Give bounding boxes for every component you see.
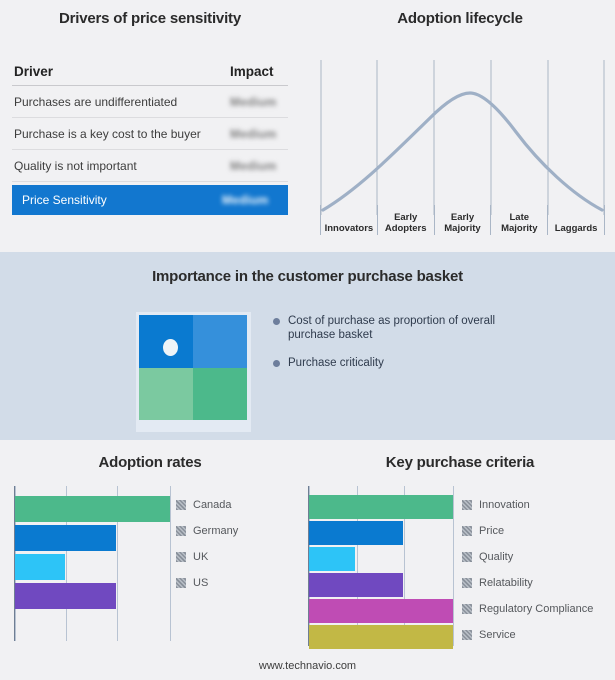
bar-regulatory-compliance — [309, 599, 453, 623]
lifecycle-panel-title: Adoption lifecycle — [305, 10, 615, 27]
bar-row — [15, 523, 170, 552]
impact-value: Medium — [230, 95, 282, 109]
bar-service — [309, 625, 453, 649]
lifecycle-segment-late-majority: LateMajority — [490, 205, 547, 235]
legend-label: Germany — [193, 525, 238, 537]
bullet-icon — [273, 318, 280, 325]
lifecycle-segment-laggards: Laggards — [547, 205, 605, 235]
key-purchase-criteria-legend: InnovationPriceQualityRelatabilityRegula… — [462, 492, 593, 648]
lifecycle-segment-innovators: Innovators — [320, 205, 377, 235]
legend-label: US — [193, 577, 208, 589]
driver-name: Purchases are undifferentiated — [14, 95, 177, 109]
legend-label: Quality — [479, 551, 513, 563]
bar-series — [309, 494, 453, 650]
legend-item: UK — [176, 544, 238, 570]
legend-label: Canada — [193, 499, 232, 511]
legend-label: Innovation — [479, 499, 530, 511]
segment-label: Innovators — [325, 223, 374, 235]
column-header-impact: Impact — [230, 64, 282, 79]
legend-item: Price — [462, 518, 593, 544]
bar-row — [309, 572, 453, 598]
legend-item: Cost of purchase as proportion of overal… — [273, 314, 573, 342]
bar-row — [15, 552, 170, 581]
legend-item: Relatability — [462, 570, 593, 596]
driver-name: Purchase is a key cost to the buyer — [14, 127, 201, 141]
legend-swatch-icon — [176, 500, 186, 510]
gridline — [453, 486, 454, 646]
legend-label: Regulatory Compliance — [479, 603, 593, 615]
table-row: Quality is not important Medium — [12, 150, 288, 182]
bar-row — [15, 581, 170, 610]
impact-value: Medium — [222, 193, 274, 207]
legend-swatch-icon — [176, 552, 186, 562]
basket-legend: Cost of purchase as proportion of overal… — [273, 314, 573, 384]
segment-label: Laggards — [555, 223, 598, 235]
segment-label: EarlyMajority — [444, 212, 480, 235]
legend-item: US — [176, 570, 238, 596]
legend-item: Canada — [176, 492, 238, 518]
bar-row — [309, 624, 453, 650]
legend-label: Service — [479, 629, 516, 641]
bar-row — [309, 598, 453, 624]
footer-url: www.technavio.com — [0, 660, 615, 672]
legend-item: Innovation — [462, 492, 593, 518]
bar-canada — [15, 496, 170, 522]
legend-label: Price — [479, 525, 504, 537]
infographic-root: Drivers of price sensitivity Driver Impa… — [0, 0, 615, 680]
legend-swatch-icon — [462, 604, 472, 614]
legend-label: UK — [193, 551, 208, 563]
lifecycle-segment-early-majority: EarlyMajority — [434, 205, 491, 235]
legend-swatch-icon — [462, 578, 472, 588]
legend-label: Relatability — [479, 577, 533, 589]
bar-relatability — [309, 573, 403, 597]
drivers-of-price-sensitivity-panel: Drivers of price sensitivity Driver Impa… — [0, 0, 300, 252]
legend-swatch-icon — [462, 500, 472, 510]
legend-swatch-icon — [462, 630, 472, 640]
bar-row — [309, 546, 453, 572]
bar-germany — [15, 525, 116, 551]
bar-series — [15, 494, 170, 610]
bullet-icon — [273, 360, 280, 367]
basket-panel-title: Importance in the customer purchase bask… — [0, 268, 615, 285]
bar-row — [309, 494, 453, 520]
legend-item: Service — [462, 622, 593, 648]
legend-item: Germany — [176, 518, 238, 544]
drivers-table: Driver Impact Purchases are undifferenti… — [12, 58, 288, 215]
bar-us — [15, 583, 116, 609]
adoption-rates-plot — [14, 486, 170, 641]
legend-swatch-icon — [462, 526, 472, 536]
legend-item: Quality — [462, 544, 593, 570]
legend-swatch-icon — [176, 526, 186, 536]
key-purchase-criteria-title: Key purchase criteria — [305, 454, 615, 471]
table-row: Purchase is a key cost to the buyer Medi… — [12, 118, 288, 150]
driver-name: Quality is not important — [14, 159, 137, 173]
key-purchase-criteria-panel: Key purchase criteria InnovationPriceQua… — [305, 440, 615, 680]
legend-item: Regulatory Compliance — [462, 596, 593, 622]
segment-label: LateMajority — [501, 212, 537, 235]
bell-curve-svg — [320, 60, 605, 215]
table-row: Purchases are undifferentiated Medium — [12, 86, 288, 118]
lifecycle-gridlines — [321, 60, 604, 215]
legend-swatch-icon — [176, 578, 186, 588]
lifecycle-curve-path — [323, 93, 602, 210]
adoption-rates-legend: CanadaGermanyUKUS — [176, 492, 238, 596]
gridline — [170, 486, 171, 641]
segment-label: EarlyAdopters — [385, 212, 427, 235]
lifecycle-segment-early-adopters: EarlyAdopters — [377, 205, 434, 235]
quadrant-bottom-right — [193, 368, 247, 421]
quadrant-bottom-left — [139, 368, 193, 421]
quadrant-matrix-container — [136, 312, 251, 432]
bar-quality — [309, 547, 355, 571]
driver-name: Price Sensitivity — [22, 193, 107, 207]
legend-label: Cost of purchase as proportion of overal… — [288, 314, 503, 342]
quadrant-top-right — [193, 315, 247, 368]
table-header-row: Driver Impact — [12, 58, 288, 86]
bar-innovation — [309, 495, 453, 519]
lifecycle-axis-labels: Innovators EarlyAdopters EarlyMajority L… — [320, 205, 605, 235]
column-header-driver: Driver — [14, 64, 53, 79]
lifecycle-bell-curve-plot — [320, 60, 605, 215]
adoption-rates-panel: Adoption rates CanadaGermanyUKUS — [0, 440, 300, 680]
adoption-rates-title: Adoption rates — [0, 454, 300, 471]
table-row-highlighted-price-sensitivity: Price Sensitivity Medium — [12, 185, 288, 215]
bar-price — [309, 521, 403, 545]
impact-value: Medium — [230, 159, 282, 173]
drivers-panel-title: Drivers of price sensitivity — [0, 10, 300, 27]
position-marker-dot — [163, 339, 178, 356]
key-purchase-criteria-plot — [308, 486, 453, 646]
bar-row — [309, 520, 453, 546]
bar-row — [15, 494, 170, 523]
legend-label: Purchase criticality — [288, 356, 384, 370]
bar-uk — [15, 554, 65, 580]
legend-item: Purchase criticality — [273, 356, 573, 370]
quadrant-matrix — [139, 315, 247, 420]
legend-swatch-icon — [462, 552, 472, 562]
adoption-lifecycle-panel: Adoption lifecycle Innovators EarlyAdop — [305, 0, 615, 252]
purchase-basket-panel: Importance in the customer purchase bask… — [0, 252, 615, 440]
impact-value: Medium — [230, 127, 282, 141]
